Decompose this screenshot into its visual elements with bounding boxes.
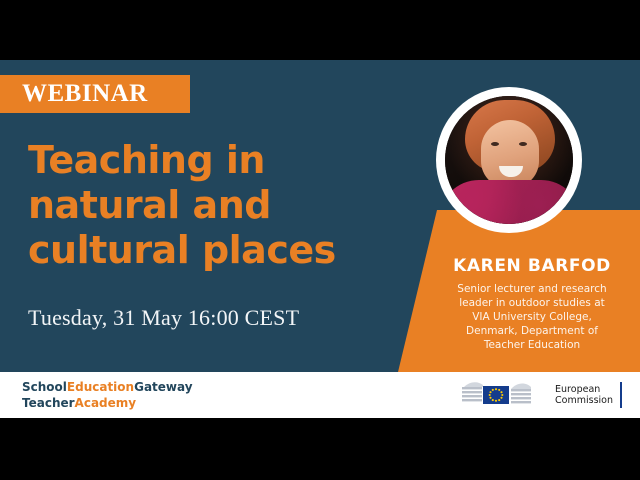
european-commission-wordmark: European Commission [555, 384, 613, 407]
headline-line-1: Teaching in [28, 138, 408, 183]
ec-line-1: European [555, 384, 613, 396]
photo-scarf [445, 180, 573, 224]
letterbox-top [0, 0, 640, 60]
avatar [436, 87, 582, 233]
webinar-poster: WEBINAR Teaching in natural and cultural… [0, 0, 640, 480]
speaker-bio-line: Teacher Education [428, 338, 636, 352]
speaker-bio-line: VIA University College, [428, 310, 636, 324]
speaker-bio: Senior lecturer and research leader in o… [428, 282, 636, 352]
speaker-bio-line: Denmark, Department of [428, 324, 636, 338]
event-datetime: Tuesday, 31 May 16:00 CEST [28, 305, 299, 331]
ec-line-2: Commission [555, 395, 613, 407]
photo-eye-left [491, 142, 499, 146]
speaker-bio-line: Senior lecturer and research [428, 282, 636, 296]
school-education-gateway-logo: SchoolEducationGateway TeacherAcademy [22, 379, 193, 411]
speaker-bio-line: leader in outdoor studies at [428, 296, 636, 310]
brand-word: Gateway [134, 380, 192, 394]
footer-bar: SchoolEducationGateway TeacherAcademy [0, 372, 640, 418]
photo-face [481, 120, 539, 188]
speaker-block: KAREN BARFOD Senior lecturer and researc… [428, 256, 636, 352]
webinar-badge-label: WEBINAR [22, 80, 148, 108]
slide-canvas: WEBINAR Teaching in natural and cultural… [0, 60, 640, 418]
letterbox-bottom [0, 418, 640, 480]
page-title: Teaching in natural and cultural places [28, 138, 408, 273]
ec-accent-bar [620, 382, 622, 408]
headline-line-2: natural and [28, 183, 408, 228]
european-commission-logo: European Commission [462, 380, 622, 410]
webinar-badge: WEBINAR [0, 75, 190, 113]
eu-flag-icon [462, 380, 548, 410]
brand-line-1: SchoolEducationGateway [22, 379, 193, 395]
brand-word-accent: Academy [75, 396, 137, 410]
speaker-name: KAREN BARFOD [428, 256, 636, 276]
headline-line-3: cultural places [28, 228, 408, 273]
brand-word-accent: Education [67, 380, 134, 394]
photo-eye-right [519, 142, 527, 146]
brand-word: Teacher [22, 396, 75, 410]
brand-word: School [22, 380, 67, 394]
speaker-photo [445, 96, 573, 224]
brand-line-2: TeacherAcademy [22, 395, 193, 411]
